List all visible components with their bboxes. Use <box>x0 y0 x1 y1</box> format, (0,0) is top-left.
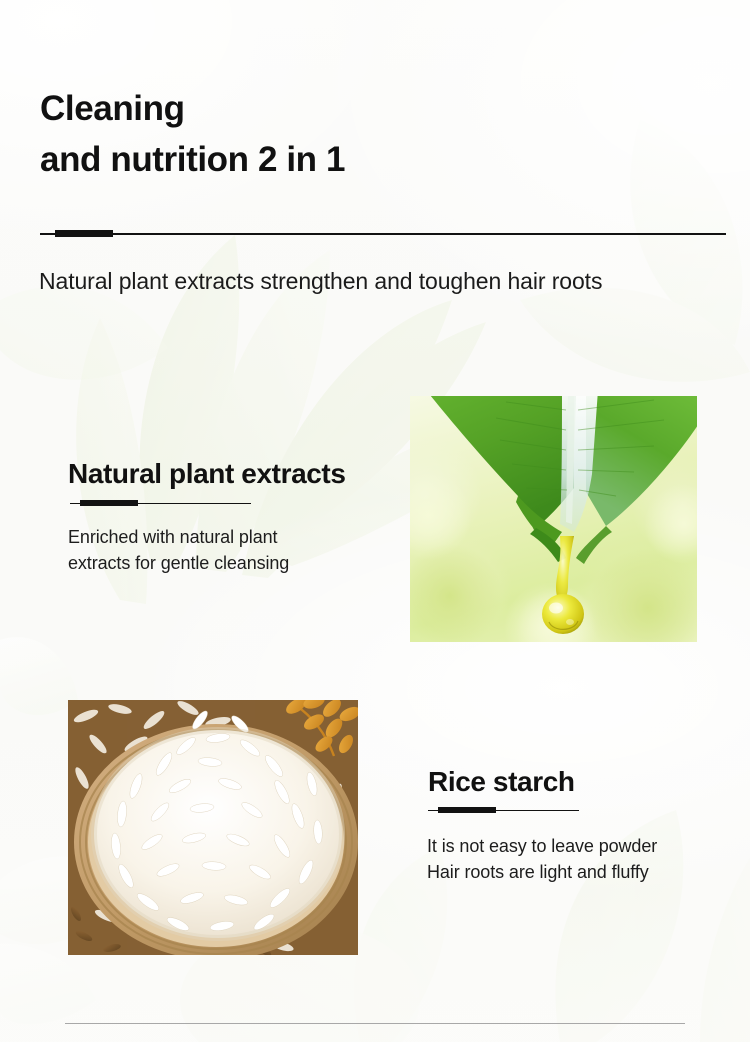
title-divider-thin-line <box>40 233 726 235</box>
feature-divider-thick-segment <box>438 807 496 813</box>
feature-divider-natural-plant-extracts <box>70 500 251 507</box>
page-title-line-2: and nutrition 2 in 1 <box>40 135 720 186</box>
product-feature-page: Cleaning and nutrition 2 in 1 Natural pl… <box>0 0 750 1042</box>
feature-description-rice-starch: It is not easy to leave powder Hair root… <box>427 833 727 886</box>
page-subtitle: Natural plant extracts strengthen and to… <box>39 268 602 295</box>
feature-divider-rice-starch <box>428 807 579 814</box>
feature-title-natural-plant-extracts: Natural plant extracts <box>68 458 346 490</box>
title-divider-thick-segment <box>55 230 113 237</box>
feature-title-rice-starch: Rice starch <box>428 766 575 798</box>
title-divider <box>40 230 726 238</box>
feature-divider-thick-segment <box>80 500 138 506</box>
page-title-line-1: Cleaning <box>40 84 720 135</box>
header: Cleaning and nutrition 2 in 1 <box>40 84 720 186</box>
footer-divider <box>65 1023 685 1024</box>
feature-description-natural-plant-extracts: Enriched with natural plant extracts for… <box>68 524 378 577</box>
feature-image-leaf-oil-drop <box>410 396 697 642</box>
feature-image-rice-basket <box>68 700 358 955</box>
